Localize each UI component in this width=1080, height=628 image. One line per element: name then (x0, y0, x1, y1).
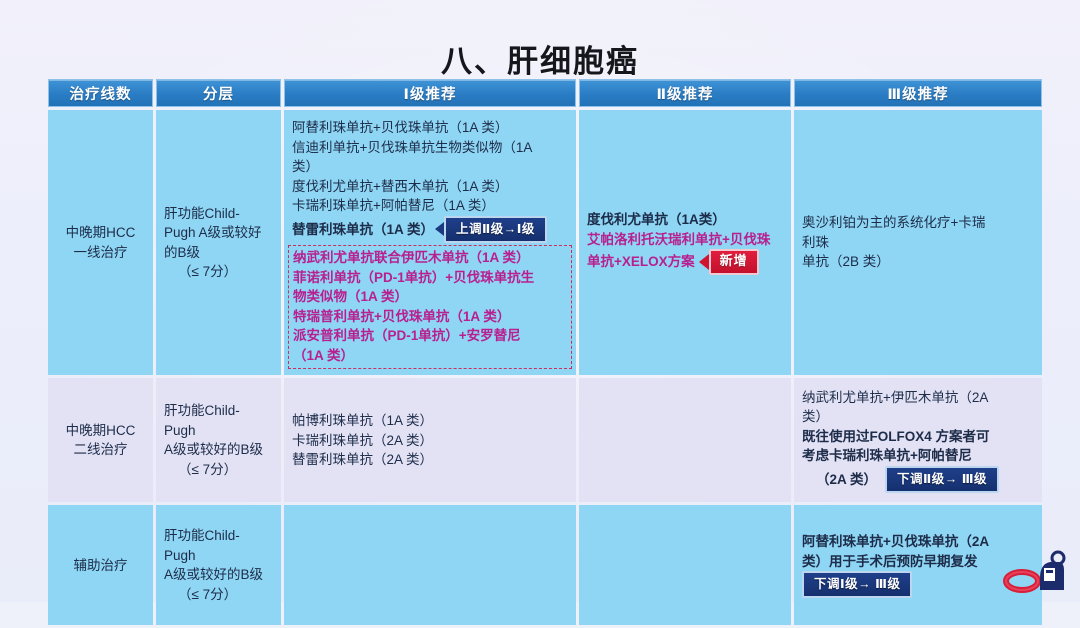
strata-line-2: Pugh A级或较好 (164, 223, 273, 243)
header-stratification: 分层 (156, 79, 281, 107)
table-row: 中晚期HCC 二线治疗 肝功能Child- Pugh A级或较好的B级 （≤ 7… (48, 378, 1042, 502)
strata-line-4: （≤ 7分） (164, 460, 273, 480)
level3-item: 奥沙利铂为主的系统化疗+卡瑞 (802, 213, 1034, 233)
downgrade-badge: 下调Ⅱ级→ Ⅲ级 (885, 466, 999, 493)
cell-stratification: 肝功能Child- Pugh A级或较好的B级 （≤ 7分） (156, 505, 281, 625)
level1-newly-added-box: 纳武利尤单抗联合伊匹木单抗（1A 类） 菲诺利单抗（PD-1单抗）+贝伐珠单抗生… (288, 245, 572, 369)
cell-stratification: 肝功能Child- Pugh A级或较好的B级 （≤ 7分） (156, 378, 281, 502)
strata-line-4: （≤ 7分） (164, 262, 273, 282)
recommendation-table-wrapper: 治疗线数 分层 Ⅰ级推荐 Ⅱ级推荐 Ⅲ级推荐 中晚期HCC 一线治疗 肝功能Ch… (45, 76, 1035, 628)
strata-line-3: A级或较好的B级 (164, 565, 273, 585)
level2-item: 度伐利尤单抗（1A类） (587, 210, 783, 230)
page-title: 八、肝细胞癌 (0, 36, 1080, 81)
level1-added-item: 派安普利单抗（PD-1单抗）+安罗替尼 (293, 326, 567, 346)
level1-added-item: 特瑞普利单抗+贝伐珠单抗（1A 类） (293, 307, 567, 327)
header-level-3: Ⅲ级推荐 (794, 79, 1042, 107)
level1-item: 替雷利珠单抗（2A 类） (292, 450, 568, 470)
level3-badge-row: 下调Ⅰ级→ Ⅲ级 (802, 576, 912, 591)
cell-level-1: 帕博利珠单抗（1A 类） 卡瑞利珠单抗（2A 类） 替雷利珠单抗（2A 类） (284, 378, 576, 502)
level1-added-item: （1A 类） (293, 346, 567, 366)
level1-item: 类） (292, 157, 568, 177)
slide: 八、肝细胞癌 治疗线数 分层 Ⅰ级推荐 Ⅱ级推荐 Ⅲ级推荐 中晚期HCC (0, 0, 1080, 602)
header-treatment-line: 治疗线数 (48, 79, 153, 107)
strata-line-2: Pugh (164, 546, 273, 566)
level3-item: 类） (802, 407, 1034, 427)
level3-badge-row: （2A 类） 下调Ⅱ级→ Ⅲ级 (802, 466, 1034, 493)
level3-item: 单抗（2B 类） (802, 252, 1034, 272)
level1-item: 阿替利珠单抗+贝伐珠单抗（1A 类） (292, 118, 568, 138)
cell-level-3: 奥沙利铂为主的系统化疗+卡瑞 利珠 单抗（2B 类） (794, 110, 1042, 375)
cell-level-3: 纳武利尤单抗+伊匹木单抗（2A 类） 既往使用过FOLFOX4 方案者可 考虑卡… (794, 378, 1042, 502)
cell-level-1 (284, 505, 576, 625)
treatment-line-text-1: 中晚期HCC (56, 421, 145, 441)
cell-treatment-line: 辅助治疗 (48, 505, 153, 625)
cell-level-1: 阿替利珠单抗+贝伐珠单抗（1A 类） 信迪利单抗+贝伐珠单抗生物类似物（1A 类… (284, 110, 576, 375)
level1-item: 卡瑞利珠单抗+阿帕替尼（1A 类） (292, 196, 568, 216)
level1-item: 卡瑞利珠单抗（2A 类） (292, 431, 568, 451)
table-header-row: 治疗线数 分层 Ⅰ级推荐 Ⅱ级推荐 Ⅲ级推荐 (48, 79, 1042, 107)
level1-added-item: 物类似物（1A 类） (293, 287, 567, 307)
new-badge: 新增 (709, 249, 759, 275)
level1-added-item: 菲诺利单抗（PD-1单抗）+贝伐珠单抗生 (293, 268, 567, 288)
cell-stratification: 肝功能Child- Pugh A级或较好 的B级 （≤ 7分） (156, 110, 281, 375)
header-level-1: Ⅰ级推荐 (284, 79, 576, 107)
strata-line-1: 肝功能Child- (164, 401, 273, 421)
level2-added-item: 单抗+XELOX方案 (587, 252, 695, 272)
level3-bold-item: 考虑卡瑞利珠单抗+阿帕替尼 (802, 446, 1034, 466)
table-row: 中晚期HCC 一线治疗 肝功能Child- Pugh A级或较好 的B级 （≤ … (48, 110, 1042, 375)
table-row: 辅助治疗 肝功能Child- Pugh A级或较好的B级 （≤ 7分） 阿替利珠… (48, 505, 1042, 625)
strata-line-1: 肝功能Child- (164, 526, 273, 546)
downgrade-badge: 下调Ⅰ级→ Ⅲ级 (802, 571, 912, 598)
level3-bold-item: 既往使用过FOLFOX4 方案者可 (802, 427, 1034, 447)
strata-line-3: A级或较好的B级 (164, 440, 273, 460)
level2-added-item: 艾帕洛利托沃瑞利单抗+贝伐珠 (587, 230, 783, 250)
level3-item: 纳武利尤单抗+伊匹木单抗（2A (802, 388, 1034, 408)
upgrade-badge: 上调Ⅱ级→Ⅰ级 (444, 216, 547, 243)
strata-line-2: Pugh (164, 421, 273, 441)
level1-upgraded-row: 替雷利珠单抗（1A 类） 上调Ⅱ级→Ⅰ级 (292, 216, 568, 243)
level2-added-row: 单抗+XELOX方案 新增 (587, 249, 783, 275)
strata-line-3: 的B级 (164, 243, 273, 263)
level1-item: 度伐利尤单抗+替西木单抗（1A 类） (292, 177, 568, 197)
strata-line-1: 肝功能Child- (164, 204, 273, 224)
treatment-line-text-2: 二线治疗 (56, 440, 145, 460)
level1-item: 信迪利单抗+贝伐珠单抗生物类似物（1A (292, 138, 568, 158)
header-level-2: Ⅱ级推荐 (579, 79, 791, 107)
level3-item: 利珠 (802, 233, 1034, 253)
cell-treatment-line: 中晚期HCC 二线治疗 (48, 378, 153, 502)
cell-level-2 (579, 505, 791, 625)
treatment-line-text-1: 辅助治疗 (56, 556, 145, 576)
recommendation-table: 治疗线数 分层 Ⅰ级推荐 Ⅱ级推荐 Ⅲ级推荐 中晚期HCC 一线治疗 肝功能Ch… (45, 76, 1045, 628)
cell-level-2: 度伐利尤单抗（1A类） 艾帕洛利托沃瑞利单抗+贝伐珠 单抗+XELOX方案 新增 (579, 110, 791, 375)
level3-bold-item: （2A 类） (802, 470, 877, 490)
level1-item: 帕博利珠单抗（1A 类） (292, 411, 568, 431)
level1-upgraded-item: 替雷利珠单抗（1A 类） (292, 220, 434, 240)
treatment-line-text-2: 一线治疗 (56, 243, 145, 263)
level1-added-item: 纳武利尤单抗联合伊匹木单抗（1A 类） (293, 248, 567, 268)
channel-logo-icon (1000, 548, 1074, 598)
cell-level-2 (579, 378, 791, 502)
cell-treatment-line: 中晚期HCC 一线治疗 (48, 110, 153, 375)
treatment-line-text-1: 中晚期HCC (56, 223, 145, 243)
